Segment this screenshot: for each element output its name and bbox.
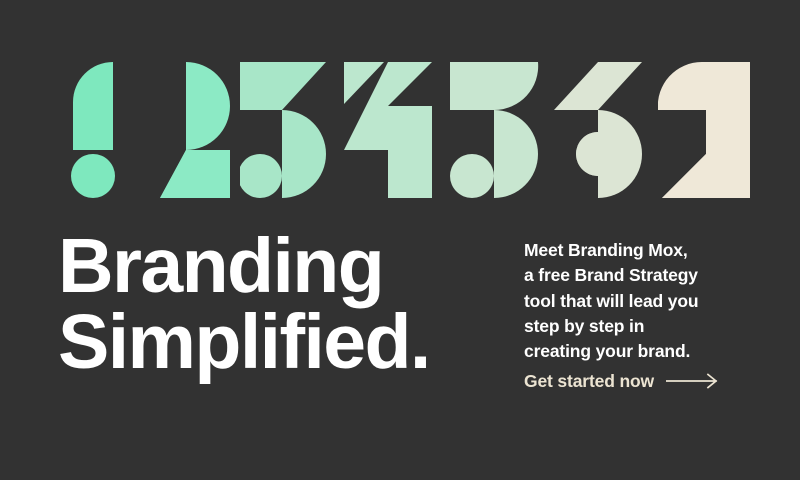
side-copy-line-4: step by step in [524, 314, 768, 339]
side-copy-line-3: tool that will lead you [524, 289, 768, 314]
numeral-glyph-1 [65, 62, 131, 198]
headline: Branding Simplified. [58, 228, 528, 380]
numeral-5-shapes [450, 62, 538, 198]
headline-line-2: Simplified. [58, 304, 528, 380]
side-copy-block: Meet Branding Mox, a free Brand Strategy… [524, 238, 768, 392]
numeral-glyph-6 [554, 62, 644, 198]
arrow-right-icon [666, 373, 720, 389]
numeral-glyph-5 [450, 62, 540, 198]
side-copy-line-2: a free Brand Strategy [524, 263, 768, 288]
numeral-glyph-4 [344, 62, 432, 198]
numeral-1-shapes [71, 62, 115, 198]
headline-line-1: Branding [58, 228, 528, 304]
numeral-display-row [0, 62, 800, 198]
poster-canvas: Branding Simplified. Meet Branding Mox, … [0, 0, 800, 480]
side-copy-line-1: Meet Branding Mox, [524, 238, 768, 263]
numeral-glyph-2 [160, 62, 240, 198]
numeral-6-shapes [554, 62, 642, 198]
numeral-4-shapes [344, 62, 432, 198]
numeral-glyph-7 [658, 62, 754, 198]
side-copy-line-5: creating your brand. [524, 339, 768, 364]
numeral-7-shapes [658, 62, 750, 198]
get-started-label: Get started now [524, 370, 654, 392]
get-started-cta[interactable]: Get started now [524, 370, 768, 392]
numeral-2-shapes [160, 62, 230, 198]
numeral-glyph-3 [240, 62, 326, 198]
numeral-3-shapes [240, 62, 326, 198]
